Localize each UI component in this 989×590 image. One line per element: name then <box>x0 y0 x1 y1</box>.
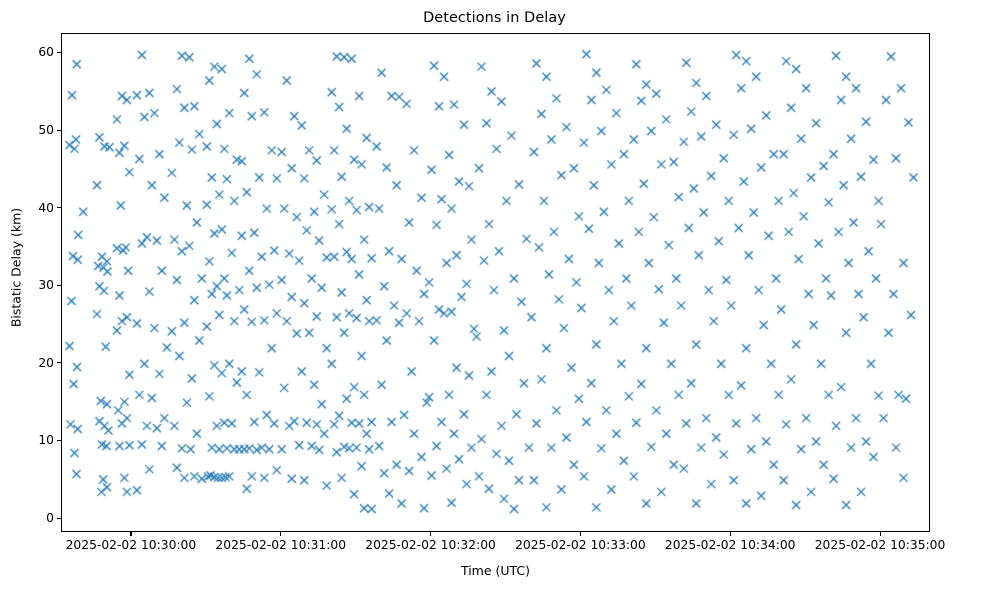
plot-area <box>61 33 930 532</box>
x-tick-mark <box>280 532 281 536</box>
page-title: Detections in Delay <box>0 10 989 26</box>
y-tick-label: 0 <box>8 511 54 525</box>
x-tick-mark <box>730 532 731 536</box>
x-tick-mark <box>130 532 131 536</box>
x-tick-label: 2025-02-02 10:33:00 <box>470 538 690 552</box>
x-tick-mark <box>880 532 881 536</box>
x-tick-mark <box>430 532 431 536</box>
x-tick-label: 2025-02-02 10:32:00 <box>321 538 541 552</box>
x-tick-mark <box>580 532 581 536</box>
matplotlib-figure: Detections in Delay 0102030405060 2025-0… <box>0 0 989 590</box>
x-tick-label: 2025-02-02 10:35:00 <box>770 538 989 552</box>
y-tick-label: 10 <box>8 433 54 447</box>
scatter-series-detections <box>62 34 930 532</box>
y-tick-label: 60 <box>8 45 54 59</box>
x-tick-label: 2025-02-02 10:31:00 <box>171 538 391 552</box>
x-tick-label: 2025-02-02 10:30:00 <box>21 538 241 552</box>
y-axis-title: Bistatic Delay (km) <box>9 118 24 418</box>
x-tick-label: 2025-02-02 10:34:00 <box>620 538 840 552</box>
x-axis-title: Time (UTC) <box>61 563 930 578</box>
